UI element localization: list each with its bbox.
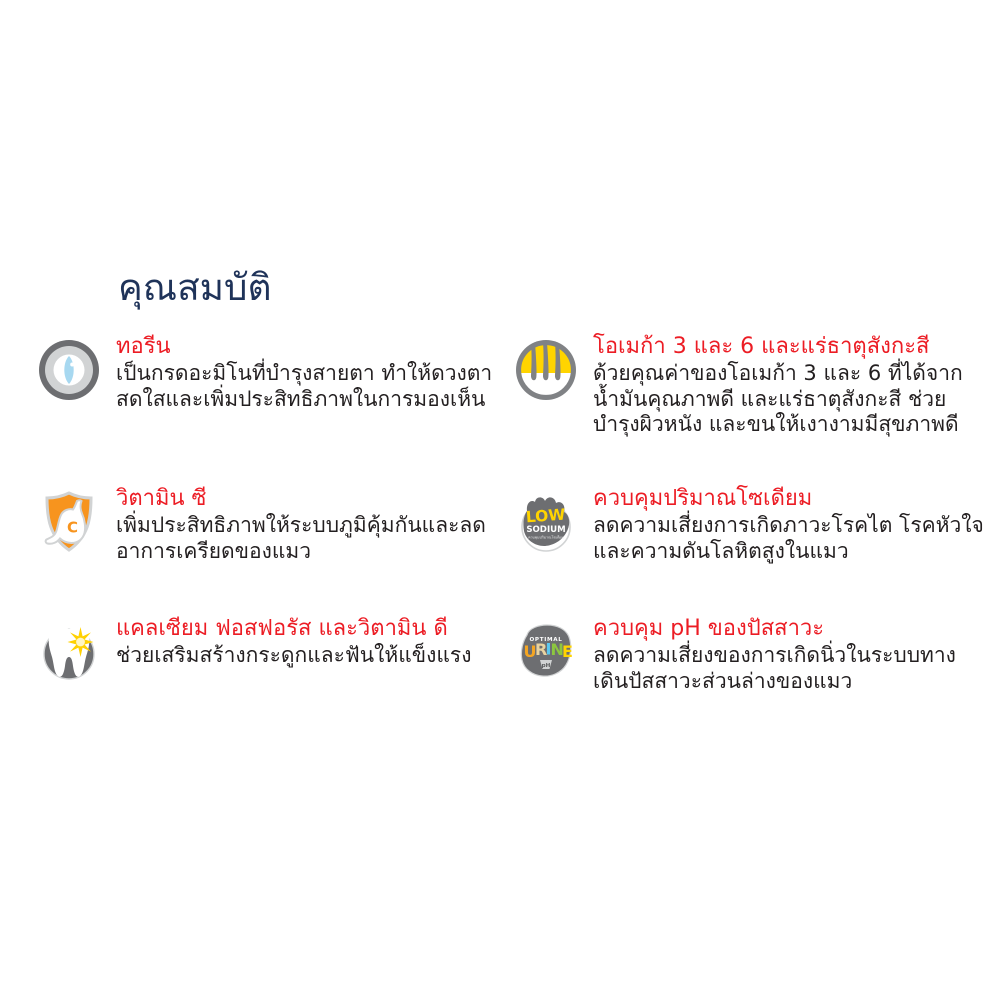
feature-desc-line: บำรุงผิวหนัง และขนให้เงางามมีสุขภาพดี <box>593 412 991 438</box>
feature-description: เป็นกรดอะมิโนที่บำรุงสายตา ทำให้ดวงตา สด… <box>116 361 506 412</box>
feature-text: ควบคุม pH ของปัสสาวะ ลดความเสี่ยงของการเ… <box>593 616 991 694</box>
feature-text: ทอรีน เป็นกรดอะมิโนที่บำรุงสายตา ทำให้ดว… <box>116 334 506 412</box>
feature-description: ด้วยคุณค่าของโอเมก้า 3 และ 6 ที่ได้จาก น… <box>593 361 991 438</box>
vitamin-c-letter: C <box>67 519 78 537</box>
optimal-urine-ph-badge-icon: OPTIMAL U R I N E pH <box>513 619 579 685</box>
feature-desc-line: ด้วยคุณค่าของโอเมก้า 3 และ 6 ที่ได้จาก <box>593 361 991 387</box>
cat-shield-vitaminc-icon: C <box>36 489 102 555</box>
feature-desc-line: น้ำมันคุณภาพดี และแร่ธาตุสังกะสี ช่วย <box>593 387 991 413</box>
feature-title: วิตามิน ซี <box>116 486 506 512</box>
low-sodium-badge-icon: LOW SODIUM ควบคุมปริมาณโซเดียม <box>513 489 579 555</box>
feature-description: ลดความเสี่ยงของการเกิดนิ่วในระบบทาง เดิน… <box>593 643 991 694</box>
feature-description: ลดความเสี่ยงการเกิดภาวะโรคไต โรคหัวใจ แล… <box>593 513 991 564</box>
feature-desc-line: ลดความเสี่ยงการเกิดภาวะโรคไต โรคหัวใจ <box>593 513 991 539</box>
feature-text: ควบคุมปริมาณโซเดียม ลดความเสี่ยงการเกิดภ… <box>593 486 991 564</box>
feature-title: ควบคุมปริมาณโซเดียม <box>593 486 991 512</box>
feature-item-low-sodium: LOW SODIUM ควบคุมปริมาณโซเดียม ควบคุมปริ… <box>513 486 991 564</box>
feature-title: ทอรีน <box>116 334 506 360</box>
feature-item-omega: โอเมก้า 3 และ 6 และแร่ธาตุสังกะสี ด้วยคุ… <box>513 334 991 438</box>
feature-desc-line: เดินปัสสาวะส่วนล่างของแมว <box>593 669 991 695</box>
feature-desc-line: เพิ่มประสิทธิภาพให้ระบบภูมิคุ้มกันและลด <box>116 513 506 539</box>
feature-description: เพิ่มประสิทธิภาพให้ระบบภูมิคุ้มกันและลด … <box>116 513 506 564</box>
feature-item-vitamin-c: C วิตามิน ซี เพิ่มประสิทธิภาพให้ระบบภูมิ… <box>36 486 506 564</box>
feature-text: แคลเซียม ฟอสฟอรัส และวิตามิน ดี ช่วยเสริ… <box>116 616 506 669</box>
eye-icon <box>36 337 102 403</box>
feature-text: วิตามิน ซี เพิ่มประสิทธิภาพให้ระบบภูมิคุ… <box>116 486 506 564</box>
feature-item-calcium: แคลเซียม ฟอสฟอรัส และวิตามิน ดี ช่วยเสริ… <box>36 616 506 685</box>
feature-desc-line: เป็นกรดอะมิโนที่บำรุงสายตา ทำให้ดวงตา <box>116 361 506 387</box>
feature-text: โอเมก้า 3 และ 6 และแร่ธาตุสังกะสี ด้วยคุ… <box>593 334 991 438</box>
feature-title: ควบคุม pH ของปัสสาวะ <box>593 616 991 642</box>
feature-desc-line: และความดันโลหิตสูงในแมว <box>593 539 991 565</box>
feature-item-taurine: ทอรีน เป็นกรดอะมิโนที่บำรุงสายตา ทำให้ดว… <box>36 334 506 412</box>
feature-desc-line: ช่วยเสริมสร้างกระดูกและฟันให้แข็งแรง <box>116 643 506 669</box>
feature-title: แคลเซียม ฟอสฟอรัส และวิตามิน ดี <box>116 616 506 642</box>
feature-item-urine-ph: OPTIMAL U R I N E pH ควบคุม pH ของปัสสาว… <box>513 616 991 694</box>
feature-desc-line: ลดความเสี่ยงของการเกิดนิ่วในระบบทาง <box>593 643 991 669</box>
feature-title: โอเมก้า 3 และ 6 และแร่ธาตุสังกะสี <box>593 334 991 360</box>
urine-ph-text: pH <box>542 663 551 669</box>
tooth-sparkle-icon <box>36 619 102 685</box>
omega-oil-icon <box>513 337 579 403</box>
urine-letter-e: E <box>562 642 573 661</box>
feature-desc-line: อาการเครียดของแมว <box>116 539 506 565</box>
low-sodium-low-text: LOW <box>525 506 566 527</box>
low-sodium-sodium-text: SODIUM <box>526 525 565 535</box>
feature-description: ช่วยเสริมสร้างกระดูกและฟันให้แข็งแรง <box>116 643 506 669</box>
feature-list-page: คุณสมบัติ ทอรีน เป็นกรดอะมิโนที่บำรุงสาย… <box>0 0 1000 1000</box>
feature-desc-line: สดใสและเพิ่มประสิทธิภาพในการมองเห็น <box>116 387 506 413</box>
page-title: คุณสมบัติ <box>118 266 272 310</box>
